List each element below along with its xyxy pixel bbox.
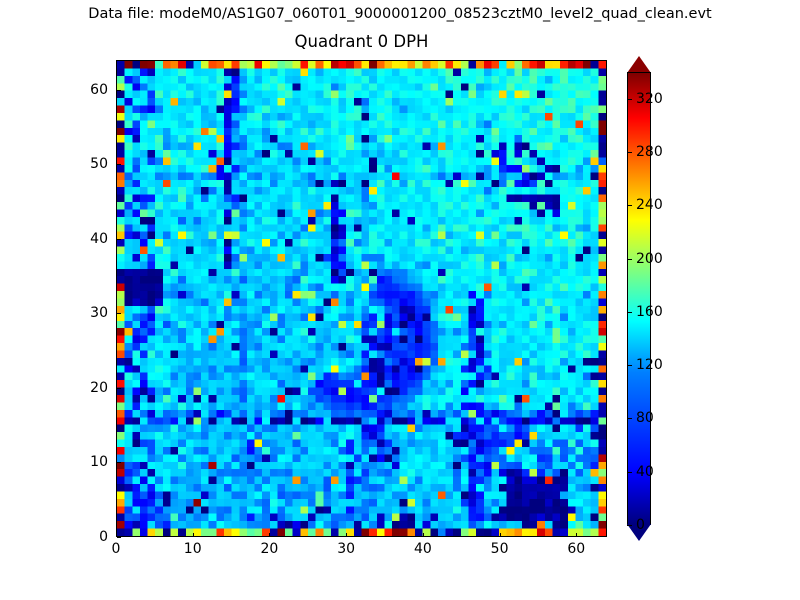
colorbar-over-arrow-icon bbox=[627, 56, 651, 73]
colorbar-tick-mark bbox=[627, 99, 632, 100]
axes-title: Quadrant 0 DPH bbox=[116, 32, 607, 51]
y-tick-mark bbox=[117, 313, 121, 314]
colorbar-tick-label: 0 bbox=[636, 517, 645, 533]
colorbar-tick-mark bbox=[627, 472, 632, 473]
x-tick-mark bbox=[269, 533, 270, 537]
colorbar-tick-label: 120 bbox=[636, 357, 663, 373]
colorbar-tick-mark bbox=[627, 205, 632, 206]
y-tick-mark bbox=[117, 90, 121, 91]
y-tick-mark bbox=[117, 239, 121, 240]
matplotlib-figure: Data file: modeM0/AS1G07_060T01_90000012… bbox=[0, 0, 800, 600]
colorbar-tick-label: 240 bbox=[636, 197, 663, 213]
x-tick-label: 60 bbox=[567, 541, 585, 557]
x-tick-label: 10 bbox=[184, 541, 202, 557]
x-tick-label: 0 bbox=[112, 541, 121, 557]
colorbar-tick-mark bbox=[627, 365, 632, 366]
x-tick-label: 20 bbox=[261, 541, 279, 557]
x-tick-mark bbox=[576, 533, 577, 537]
colorbar-tick-mark bbox=[627, 312, 632, 313]
x-tick-mark bbox=[423, 533, 424, 537]
y-tick-label: 10 bbox=[90, 454, 108, 470]
x-tick-mark bbox=[346, 533, 347, 537]
y-tick-mark bbox=[117, 462, 121, 463]
y-tick-label: 40 bbox=[90, 231, 108, 247]
colorbar-tick-mark bbox=[627, 525, 632, 526]
x-tick-mark bbox=[500, 533, 501, 537]
colorbar-tick-label: 160 bbox=[636, 304, 663, 320]
detector-heatmap-image bbox=[117, 61, 606, 536]
y-tick-label: 0 bbox=[99, 529, 108, 545]
colorbar-tick-label: 200 bbox=[636, 251, 663, 267]
colorbar-tick-mark bbox=[627, 259, 632, 260]
y-tick-label: 20 bbox=[90, 380, 108, 396]
y-tick-label: 50 bbox=[90, 156, 108, 172]
colorbar-tick-mark bbox=[627, 152, 632, 153]
colorbar-tick-mark bbox=[627, 418, 632, 419]
colorbar-tick-label: 280 bbox=[636, 144, 663, 160]
y-tick-label: 60 bbox=[90, 82, 108, 98]
colorbar-gradient bbox=[627, 72, 651, 525]
y-tick-mark bbox=[117, 164, 121, 165]
y-tick-label: 30 bbox=[90, 305, 108, 321]
heatmap-axes bbox=[116, 60, 607, 537]
colorbar-tick-label: 80 bbox=[636, 410, 654, 426]
x-tick-label: 40 bbox=[414, 541, 432, 557]
colorbar-tick-label: 320 bbox=[636, 91, 663, 107]
x-tick-label: 30 bbox=[337, 541, 355, 557]
figure-suptitle: Data file: modeM0/AS1G07_060T01_90000012… bbox=[0, 6, 800, 22]
x-tick-label: 50 bbox=[491, 541, 509, 557]
y-tick-mark bbox=[117, 537, 121, 538]
y-tick-mark bbox=[117, 388, 121, 389]
colorbar-tick-label: 40 bbox=[636, 464, 654, 480]
x-tick-mark bbox=[193, 533, 194, 537]
